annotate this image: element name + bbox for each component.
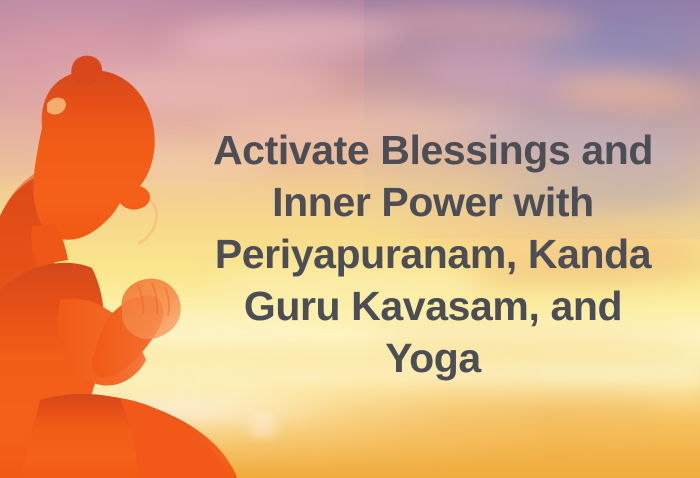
page-title: Activate Blessings and Inner Power with … — [188, 124, 678, 384]
title-line-2: Inner Power with — [188, 176, 678, 228]
silhouette-clasped-hands — [121, 279, 180, 340]
title-line-5: Yoga — [188, 332, 678, 384]
sunset-meditation-banner: Activate Blessings and Inner Power with … — [0, 0, 700, 478]
title-line-1: Activate Blessings and — [188, 124, 678, 176]
title-line-3: Periyapuranam, Kanda — [188, 228, 678, 280]
title-line-4: Guru Kavasam, and — [188, 280, 678, 332]
silhouette-head — [33, 70, 155, 240]
